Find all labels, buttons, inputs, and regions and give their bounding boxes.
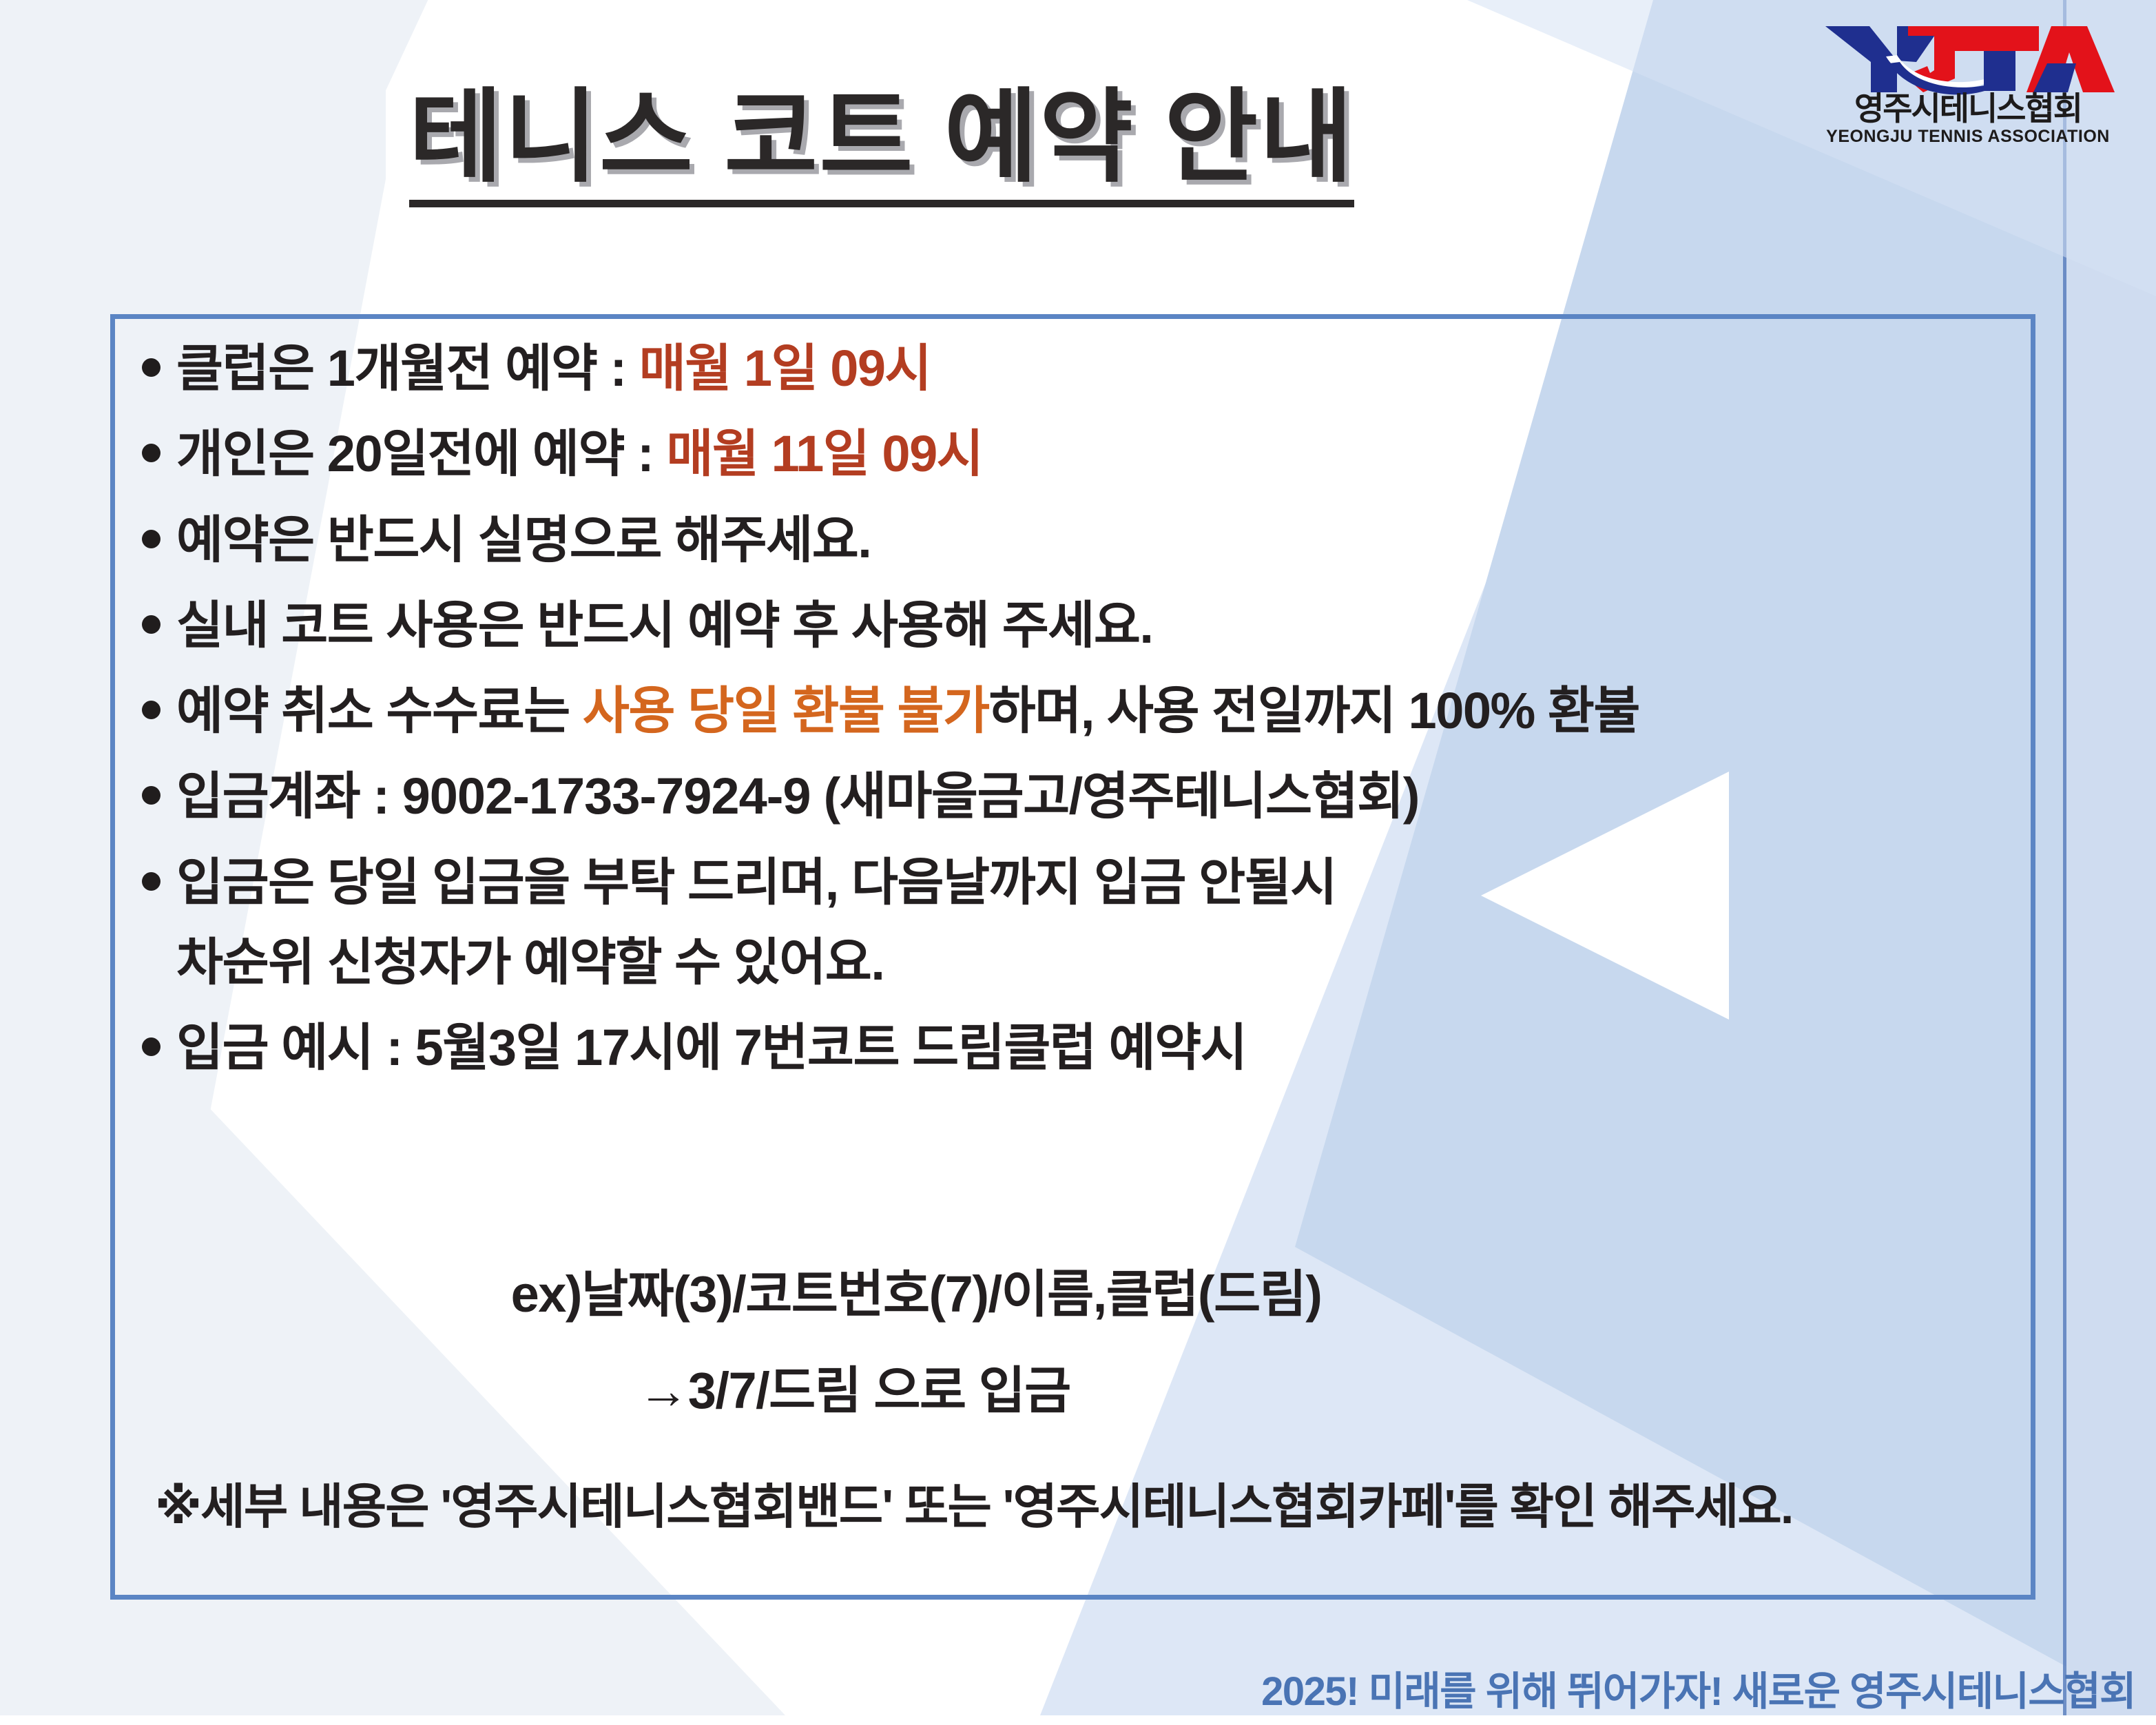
bullet-highlight: 사용 당일 환불 불가 — [583, 682, 989, 739]
list-item: 예약은 반드시 실명으로 해주세요. — [138, 509, 2066, 571]
bullet-line-1: 입금은 당일 입금을 부탁 드리며, 다음날까지 입금 안될시 — [176, 851, 1336, 913]
bullet-suffix: 하며, 사용 전일까지 100% 환불 — [989, 682, 1639, 739]
page-title: 테니스 코트 예약 안내 — [409, 86, 1355, 207]
bullet-dot-icon — [138, 765, 176, 805]
bullet-highlight: 매월 11일 09시 — [666, 425, 982, 482]
bullet-text-same-day-deposit: 입금은 당일 입금을 부탁 드리며, 다음날까지 입금 안될시 차순위 신청자가… — [176, 851, 1336, 994]
list-item: 입금계좌 : 9002-1733-7924-9 (새마을금고/영주테니스협회) — [138, 765, 2066, 827]
bullet-prefix: 예약 취소 수수료는 — [176, 682, 583, 739]
page-title-wrapper: 테니스 코트 예약 안내 — [0, 86, 1763, 207]
notice-bullet-list: 클럽은 1개월전 예약 : 매월 1일 09시 개인은 20일전에 예약 : 매… — [138, 338, 2066, 1079]
bullet-suffix: (새마을금고/영주테니스협회) — [811, 767, 1419, 825]
bullet-dot-icon — [138, 1017, 176, 1056]
bullet-prefix: 클럽은 1개월전 예약 : — [176, 340, 639, 397]
bullet-text-indoor-court-usage: 실내 코트 사용은 반드시 예약 후 사용해 주세요. — [176, 595, 2066, 657]
association-logo: 영주시테니스협회 YEONGJU TENNIS ASSOCIATION — [1806, 21, 2130, 158]
bullet-text-deposit-account: 입금계좌 : 9002-1733-7924-9 (새마을금고/영주테니스협회) — [176, 765, 2066, 827]
bullet-dot-icon — [138, 423, 176, 462]
bullet-dot-icon — [138, 338, 176, 377]
bullet-text-deposit-example: 입금 예시 : 5월3일 17시에 7번코트 드림클럽 예약시 — [176, 1017, 2066, 1079]
list-item: 입금 예시 : 5월3일 17시에 7번코트 드림클럽 예약시 — [138, 1017, 2066, 1079]
list-item: 클럽은 1개월전 예약 : 매월 1일 09시 — [138, 338, 2066, 400]
bullet-text-club-reservation: 클럽은 1개월전 예약 : 매월 1일 09시 — [176, 338, 2066, 400]
bullet-prefix: 입금계좌 : — [176, 767, 402, 825]
slide-canvas: 영주시테니스협회 YEONGJU TENNIS ASSOCIATION 테니스 … — [0, 0, 2156, 1715]
bank-account-number: 9002-1733-7924-9 — [402, 767, 811, 825]
footnote-details-notice: ※세부 내용은 '영주시테니스협회밴드' 또는 '영주시테니스협회카페'를 확인… — [155, 1478, 2084, 1536]
list-item: 예약 취소 수수료는 사용 당일 환불 불가하며, 사용 전일까지 100% 환… — [138, 680, 2066, 742]
example-format-line: ex)날짜(3)/코트번호(7)/이름,클럽(드림) — [165, 1264, 1667, 1325]
background-far-right-strip — [2066, 0, 2156, 1715]
logo-korean-name: 영주시테니스협회 — [1854, 92, 2082, 125]
bullet-text-cancellation-fee: 예약 취소 수수료는 사용 당일 환불 불가하며, 사용 전일까지 100% 환… — [176, 680, 2066, 742]
list-item: 입금은 당일 입금을 부탁 드리며, 다음날까지 입금 안될시 차순위 신청자가… — [138, 851, 2066, 994]
bullet-text-individual-reservation: 개인은 20일전에 예약 : 매월 11일 09시 — [176, 423, 2066, 485]
bullet-dot-icon — [138, 851, 176, 891]
bullet-prefix: 개인은 20일전에 예약 : — [176, 425, 666, 482]
list-item: 실내 코트 사용은 반드시 예약 후 사용해 주세요. — [138, 595, 2066, 657]
bullet-text-real-name-required: 예약은 반드시 실명으로 해주세요. — [176, 509, 2066, 571]
bottom-white-margin — [0, 1715, 2156, 1725]
bullet-dot-icon — [138, 509, 176, 548]
logo-english-name: YEONGJU TENNIS ASSOCIATION — [1826, 128, 2110, 145]
bullet-highlight: 매월 1일 09시 — [639, 340, 931, 397]
yjta-logo-mark-icon — [1820, 21, 2116, 96]
list-item: 개인은 20일전에 예약 : 매월 11일 09시 — [138, 423, 2066, 485]
bullet-dot-icon — [138, 595, 176, 634]
bullet-dot-icon — [138, 680, 176, 719]
bullet-line-2: 차순위 신청자가 예약할 수 있어요. — [176, 931, 1336, 993]
footer-slogan: 2025! 미래를 위해 뛰어가자! 새로운 영주시테니스협회 — [1261, 1659, 2135, 1715]
example-result-line: →3/7/드림 으로 입금 — [165, 1361, 1543, 1422]
